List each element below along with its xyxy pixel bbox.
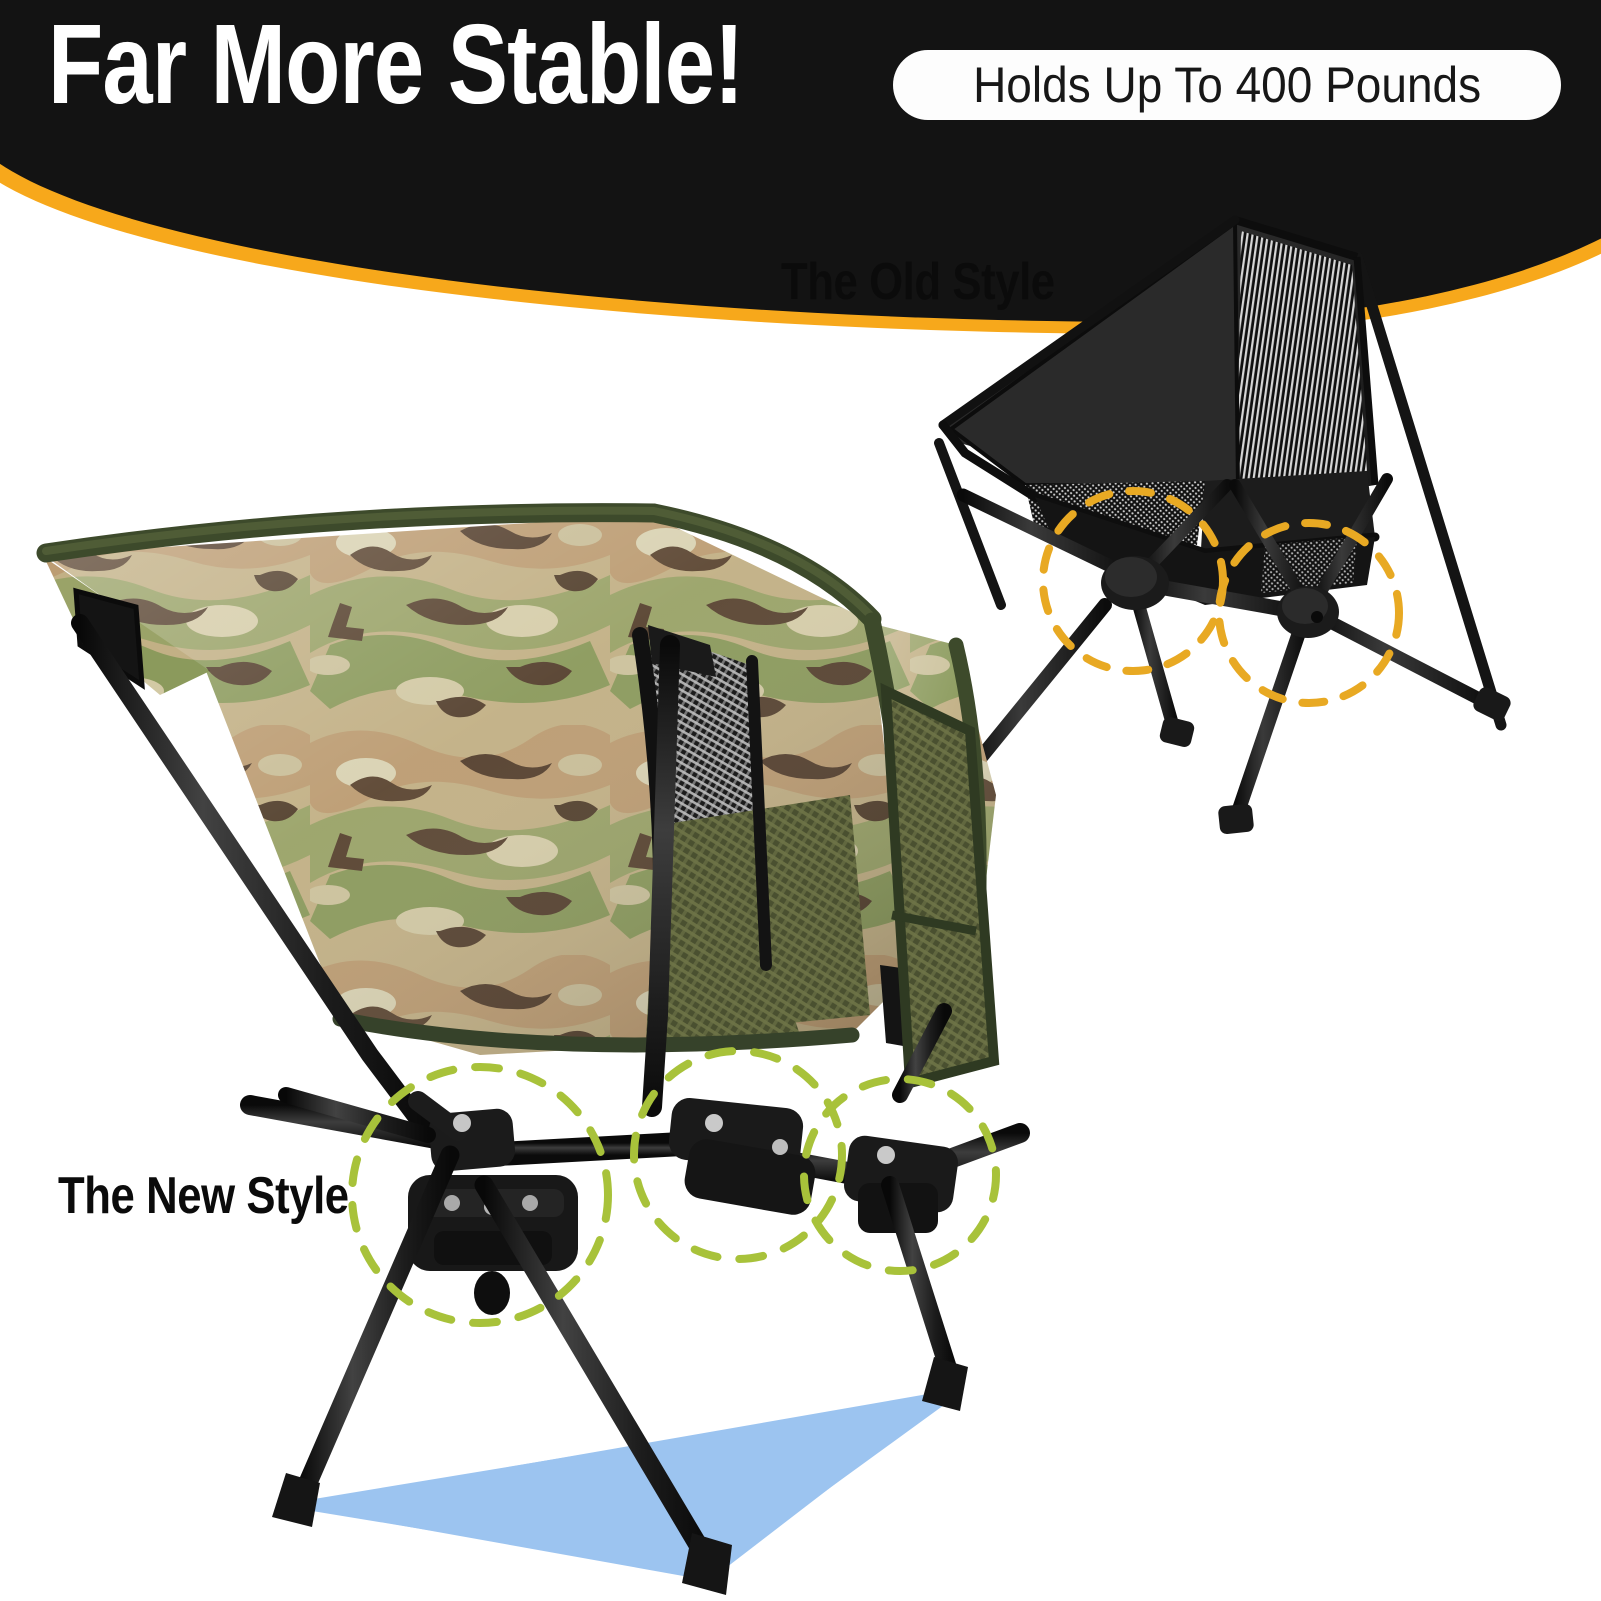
- old-style-label: The Old Style: [781, 252, 1055, 312]
- infographic-canvas: Far More Stable! Holds Up To 400 Pounds: [0, 0, 1601, 1601]
- page-title: Far More Stable!: [48, 8, 743, 121]
- capacity-badge: Holds Up To 400 Pounds: [893, 50, 1561, 120]
- capacity-badge-label: Holds Up To 400 Pounds: [973, 56, 1481, 114]
- new-style-label: The New Style: [58, 1166, 349, 1226]
- new-style-chair-illustration: [10, 495, 1030, 1595]
- hub-center: [667, 1096, 818, 1217]
